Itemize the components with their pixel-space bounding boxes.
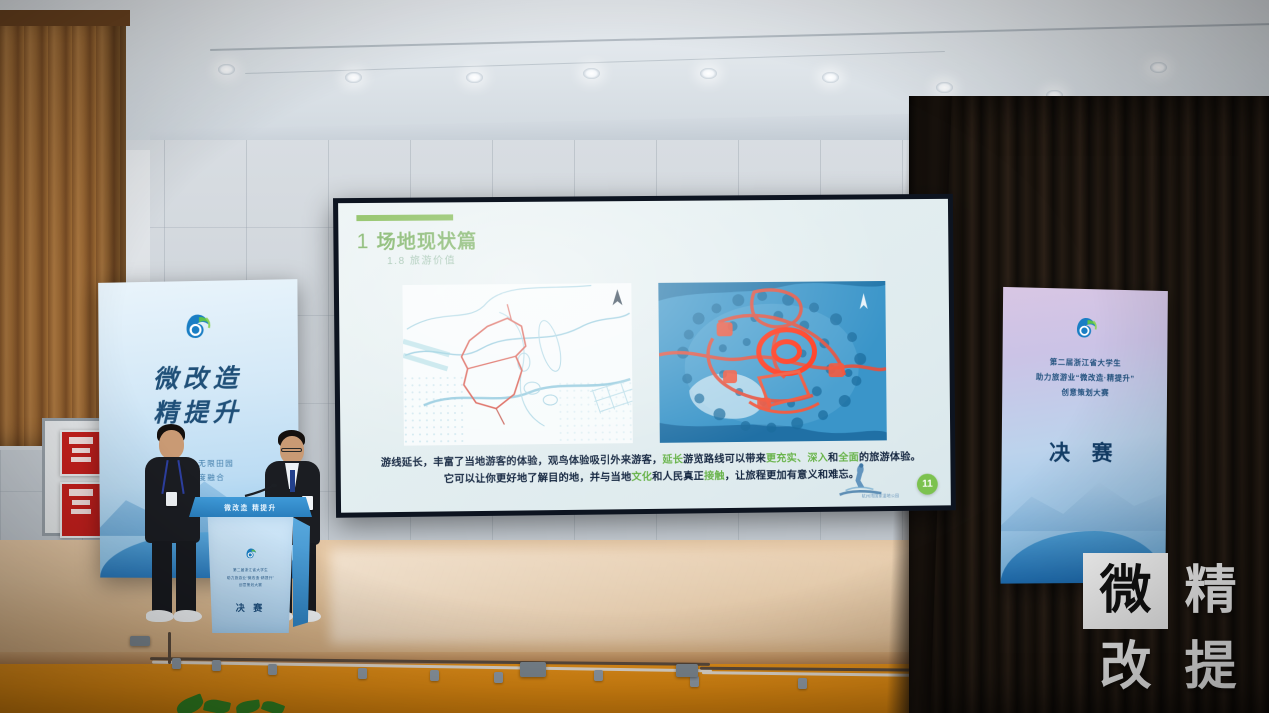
projection-screen[interactable]: 1场地现状篇 1.8 旅游价值: [333, 194, 956, 518]
event-logo-icon: [179, 311, 215, 348]
wall-poster: [60, 482, 102, 538]
cable-clip: [798, 678, 807, 689]
text-highlight: 文化: [631, 471, 652, 482]
speaker-podium: 微改造 精提升 第二届浙江省大学生 助力旅游业“微改造·精提升” 创意策划大赛 …: [189, 497, 312, 633]
slide-section-number: 1: [357, 230, 370, 253]
event-logo-icon: [243, 547, 258, 562]
cable-clip: [430, 670, 439, 681]
floor-junction-box: [130, 636, 150, 646]
right-banner-art: 第二届浙江省大学生 助力旅游业“微改造·精提升” 创意策划大赛 决 赛: [1001, 287, 1168, 584]
microphone-icon: [243, 483, 277, 498]
slide-title-text: 场地现状篇: [376, 231, 477, 253]
floor-junction-box: [676, 664, 698, 677]
mountain-graphic: [1001, 465, 1168, 532]
podium-front-panel: 第二届浙江省大学生 助力旅游业“微改造·精提升” 创意策划大赛 决 赛: [205, 517, 296, 633]
curtain-rail-left: [0, 10, 130, 26]
cable-clip: [494, 672, 503, 683]
left-banner-line1: 微改造: [99, 358, 298, 396]
podium-title-block: 第二届浙江省大学生 助力旅游业“微改造·精提升” 创意策划大赛: [205, 567, 296, 590]
slide-subtitle: 1.8 旅游价值: [387, 251, 456, 267]
text-seg: 游线延长，丰富了当地游客的体验，观鸟体验吸引外来游客，: [381, 455, 663, 469]
slide-accent-bar: [356, 214, 453, 221]
podium-line2: 助力旅游业“微改造·精提升”: [205, 575, 296, 583]
podium-final-label: 决 赛: [205, 601, 296, 614]
podium-header-text: 微改造 精提升: [189, 502, 312, 512]
ceiling-downlight: [822, 72, 839, 83]
text-highlight: 延长: [662, 455, 683, 466]
text-seg: 游览路线可以带来: [683, 454, 766, 466]
ceiling-downlight: [1150, 62, 1167, 73]
right-banner-title-block: 第二届浙江省大学生 助力旅游业“微改造·精提升” 创意策划大赛: [1002, 354, 1167, 402]
presenter-tie: [290, 470, 295, 492]
ceiling-downlight: [466, 72, 483, 83]
slide-footer-caption: 杭州湾国家湿地公园: [862, 493, 900, 499]
cable-clip: [358, 668, 367, 679]
watermark-char: 改: [1083, 629, 1168, 705]
cable-clip: [212, 660, 221, 671]
text-highlight: 接触: [704, 471, 725, 482]
auditorium-scene: 1场地现状篇 1.8 旅游价值: [0, 0, 1269, 713]
watermark-char: 精: [1168, 553, 1253, 629]
ceiling-downlight: [218, 64, 235, 75]
aerial-route-map: [658, 281, 887, 443]
ceiling-downlight: [700, 68, 717, 79]
cable-clip: [172, 658, 181, 669]
floor-junction-box: [520, 662, 546, 677]
text-highlight: 更充实、深入: [766, 453, 828, 465]
site-plan-map: [402, 283, 632, 446]
cable-clip: [690, 676, 699, 687]
slide-page-number: 11: [917, 474, 938, 495]
slide-surface: 1场地现状篇 1.8 旅游价值: [338, 199, 951, 513]
watermark-char: 微: [1083, 553, 1168, 629]
channel-watermark: 微 精 改 提: [1083, 553, 1253, 705]
right-banner-final-label: 决 赛: [1002, 436, 1167, 467]
presenter-head: [159, 430, 184, 459]
podium-side-panel: [293, 515, 310, 627]
podium-header-band: 微改造 精提升: [189, 497, 312, 517]
stage-cable-vertical: [168, 632, 171, 664]
ceiling-downlight: [936, 82, 953, 93]
ceiling-downlight: [345, 72, 362, 83]
presenter-leg: [152, 541, 172, 613]
presenter-shoe: [146, 610, 174, 622]
presenter-id-badge: [166, 492, 177, 506]
presenter-glasses: [281, 448, 302, 452]
cable-clip: [268, 664, 277, 675]
ceiling-downlight: [583, 68, 600, 79]
watermark-char: 提: [1168, 629, 1253, 705]
slide-title: 1场地现状篇: [356, 226, 477, 254]
podium-line1: 第二届浙江省大学生: [205, 567, 296, 575]
event-logo-icon: [1071, 315, 1101, 346]
right-event-banner: 第二届浙江省大学生 助力旅游业“微改造·精提升” 创意策划大赛 决 赛: [1001, 287, 1168, 584]
cable-clip: [594, 670, 603, 681]
text-seg: 和人民真正: [652, 471, 704, 483]
right-banner-line3: 创意策划大赛: [1002, 384, 1167, 401]
wall-poster: [60, 430, 102, 476]
podium-line3: 创意策划大赛: [205, 582, 296, 590]
